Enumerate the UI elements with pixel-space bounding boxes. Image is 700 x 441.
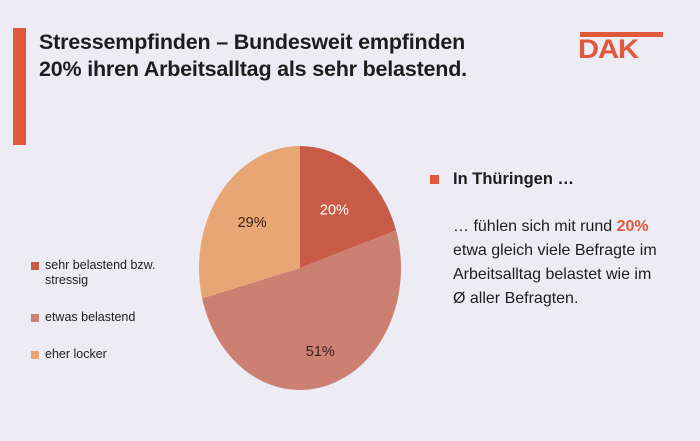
- pie-slice-value-label: 51%: [306, 344, 335, 360]
- callout-body-highlight: 20%: [617, 218, 649, 235]
- legend-item-label: sehr belastend bzw. stressig: [45, 258, 175, 288]
- legend-swatch-icon: [31, 351, 39, 359]
- callout-heading-text: In Thüringen …: [453, 170, 574, 189]
- pie-chart: 20%51%29%: [199, 146, 401, 390]
- pie-slices: [199, 146, 401, 390]
- bullet-square-icon: [430, 175, 439, 184]
- callout-body: … fühlen sich mit rund 20% etwa gleich v…: [453, 215, 668, 311]
- callout-heading: In Thüringen …: [430, 170, 680, 189]
- pie-slice-value-label: 20%: [320, 203, 349, 219]
- legend-item-sehr-belastend[interactable]: sehr belastend bzw. stressig: [31, 258, 191, 288]
- legend-item-label: etwas belastend: [45, 310, 135, 325]
- legend-item-label: eher locker: [45, 347, 107, 362]
- legend-item-eher-locker[interactable]: eher locker: [31, 347, 191, 362]
- title-line-2: 20% ihren Arbeitsalltag als sehr belaste…: [39, 56, 529, 83]
- callout-body-part1: … fühlen sich mit rund: [453, 218, 617, 235]
- callout-note: In Thüringen … … fühlen sich mit rund 20…: [430, 170, 680, 311]
- logo-text: DAK: [578, 34, 638, 65]
- dak-logo: DAK: [578, 32, 668, 65]
- chart-legend: sehr belastend bzw. stressig etwas belas…: [31, 258, 191, 384]
- legend-swatch-icon: [31, 262, 39, 270]
- pie-slice-value-label: 29%: [238, 215, 267, 231]
- legend-item-etwas-belastend[interactable]: etwas belastend: [31, 310, 191, 325]
- title-line-1: Stressempfinden – Bundesweit empfinden: [39, 29, 529, 56]
- page-title: Stressempfinden – Bundesweit empfinden 2…: [39, 29, 529, 83]
- legend-swatch-icon: [31, 314, 39, 322]
- pie-chart-svg: 20%51%29%: [199, 146, 401, 390]
- callout-body-part2: etwa gleich viele Befragte im Arbeitsall…: [453, 242, 657, 307]
- accent-bar: [13, 28, 26, 145]
